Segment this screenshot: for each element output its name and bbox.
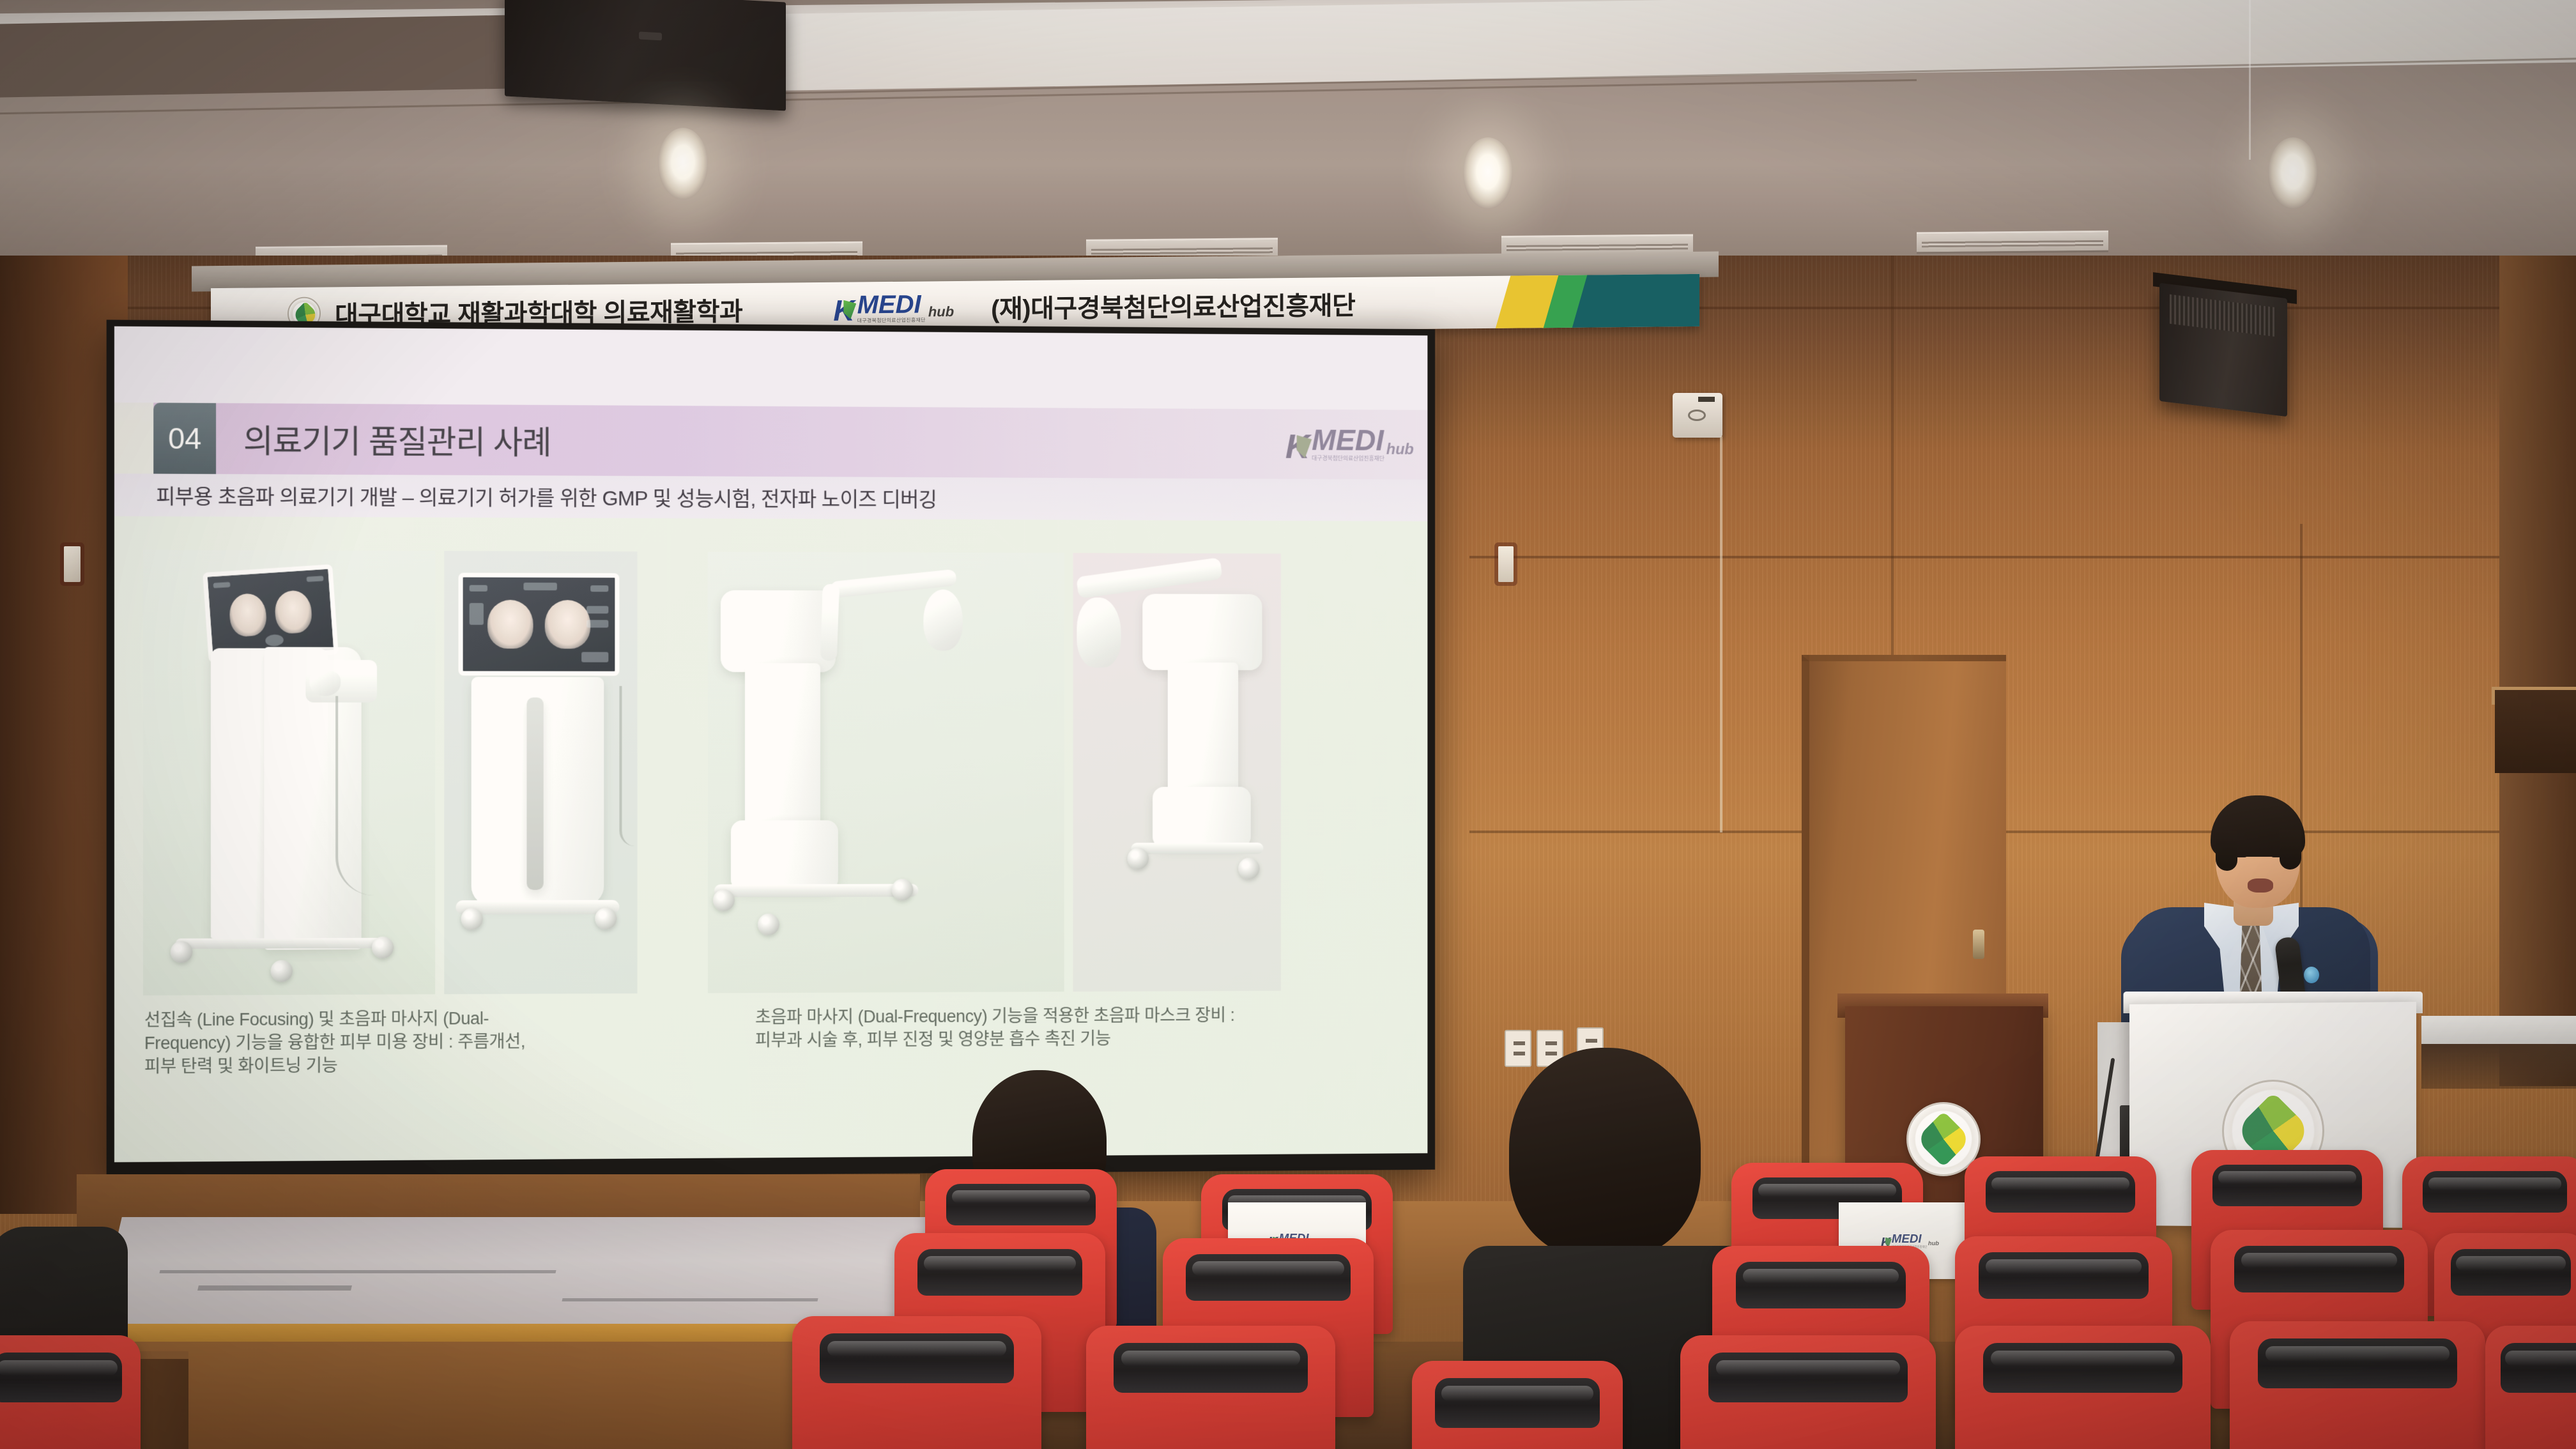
sensor-cable (1720, 436, 1722, 832)
device-caster (461, 908, 483, 930)
device-caster (595, 908, 617, 930)
screen-ui-element (586, 620, 608, 627)
ribbon-teal (1565, 274, 1699, 328)
ceiling-downlight-2 (1463, 137, 1513, 209)
device-caster (271, 960, 293, 982)
presentation-slide: 04 의료기기 품질관리 사례 K MEDI 대구경북첨단의료산업진흥재단 hu… (114, 326, 1427, 1162)
device-caster (1238, 858, 1259, 880)
seat[interactable] (1086, 1326, 1335, 1449)
door-handle[interactable] (1973, 930, 1984, 959)
device-base (1131, 843, 1263, 854)
right-wall-recess (2495, 690, 2576, 773)
sensor-lens (1688, 410, 1706, 421)
device-illustration (444, 551, 637, 994)
wall-seam (1469, 831, 2576, 833)
projection-screen: 04 의료기기 품질관리 사례 K MEDI 대구경북첨단의료산업진흥재단 hu… (107, 319, 1435, 1179)
seat[interactable] (1680, 1335, 1936, 1449)
speaker-grille (2170, 295, 2277, 337)
logo-medi-text: MEDI (857, 292, 926, 317)
slide-header-bar: 04 의료기기 품질관리 사례 K MEDI 대구경북첨단의료산업진흥재단 hu… (153, 402, 1427, 479)
placard-logo-hub: hub (1928, 1239, 1938, 1248)
device-arm-joint (820, 584, 839, 661)
banner-ribbon-graphic (1482, 274, 1699, 328)
presenter-mouth (2248, 878, 2273, 893)
device-illustration (143, 550, 435, 995)
seat[interactable] (0, 1335, 141, 1449)
ceiling-downlight-1 (658, 128, 708, 199)
device-base (176, 938, 383, 949)
device-touchscreen (459, 573, 620, 676)
slide-body: 선집속 (Line Focusing) 및 초음파 마사지 (Dual- Fre… (114, 516, 1427, 1162)
device-illustration (708, 552, 1064, 993)
logo-subtext: 대구경북첨단의료산업진흥재단 (857, 316, 926, 324)
side-table-shadow (2421, 1044, 2576, 1089)
wall-sensor-box (1673, 393, 1722, 438)
caption-right: 초음파 마사지 (Dual-Frequency) 기능을 적용한 초음파 마스크… (755, 1003, 1356, 1075)
ceiling-downlight-3 (2268, 137, 2318, 209)
device-caster (892, 879, 914, 901)
wall-fixture-center (1498, 546, 1514, 582)
slide-section-title: 의료기기 품질관리 사례 (216, 415, 551, 463)
side-table (2421, 1016, 2576, 1044)
wall-seam (1469, 556, 2576, 558)
right-wall-shadow (2499, 256, 2576, 1086)
device-base (714, 884, 918, 898)
device-mask-applicator (1077, 597, 1121, 668)
screen-ui-element (524, 583, 557, 590)
ceiling-hanging-wire (2249, 0, 2251, 160)
device-cable (619, 686, 634, 847)
wall-fixture-left (64, 546, 80, 582)
screen-ui-element (590, 585, 608, 592)
ceiling (0, 0, 2576, 275)
device-handpiece (310, 670, 341, 696)
slide-photo-row (143, 550, 1402, 995)
stage-scuff-mark (197, 1285, 352, 1291)
ultrasound-device-screen-photo (444, 551, 637, 994)
device-cable (335, 696, 374, 895)
device-caster (758, 914, 779, 935)
ultrasound-mask-device-photo (708, 552, 1064, 993)
slide-logo-hub: hub (1386, 437, 1414, 463)
auditorium-scene: 대구대학교 재활과학대학 의료재활학과 K MEDI 대구경북첨단의료산업진흥재… (0, 0, 2576, 1449)
logo-hub-text: hub (928, 300, 954, 323)
device-caster (1128, 848, 1149, 870)
screen-face-right (545, 600, 590, 648)
slide-logo-k: K (1285, 431, 1310, 462)
stage-scuff-mark (159, 1270, 556, 1273)
ultrasound-device-front-photo (143, 550, 435, 995)
device-illustration (1073, 553, 1281, 992)
ceiling-band-right (754, 0, 2576, 91)
screen-face-right (274, 590, 313, 634)
banner-right-org: (재)대구경북첨단의료산업진흥재단 (991, 285, 1355, 325)
logo-k-letter: K (833, 298, 854, 325)
presenter-lapel-badge (2304, 967, 2319, 983)
stage-scuff-mark (562, 1298, 818, 1301)
presenter-hair (2211, 795, 2305, 857)
seal-diamond (1915, 1111, 1972, 1167)
ceiling-band-left-dark (0, 14, 549, 97)
screen-ui-element (307, 576, 324, 582)
seat[interactable] (1955, 1326, 2211, 1449)
ceiling-speaker (505, 0, 786, 111)
slide-captions: 선집속 (Line Focusing) 및 초음파 마사지 (Dual- Fre… (144, 1003, 1402, 1078)
device-column-stripe (526, 698, 543, 890)
slide-subtitle-band: 피부용 초음파 의료기기 개발 – 의료기기 허가를 위한 GMP 및 성능시험… (114, 473, 1427, 521)
screen-ui-element (581, 652, 608, 662)
slide-kmedi-logo-icon: K MEDI 대구경북첨단의료산업진흥재단 hub (1285, 426, 1427, 463)
seat[interactable] (2230, 1321, 2485, 1449)
slide-top-margin (114, 326, 1427, 410)
device-support-arm (1076, 557, 1223, 599)
device-caster (713, 889, 735, 911)
device-head-unit (721, 590, 836, 672)
screen-face-left (487, 600, 533, 648)
screen-ui-element (470, 603, 484, 625)
device-lower-shelf (1153, 787, 1251, 848)
seat[interactable] (1412, 1361, 1623, 1449)
placard-logo-medi: MEDI (1891, 1233, 1927, 1245)
slide-subtitle: 피부용 초음파 의료기기 개발 – 의료기기 허가를 위한 GMP 및 성능시험… (114, 480, 937, 513)
screen-ui-element (213, 582, 231, 588)
caption-left: 선집속 (Line Focusing) 및 초음파 마사지 (Dual- Fre… (144, 1006, 726, 1078)
attendee-head (1509, 1048, 1701, 1259)
device-head-unit (1142, 594, 1262, 671)
device-mask-applicator (923, 590, 963, 651)
screen-ui-element (470, 585, 487, 592)
screen-surface: 04 의료기기 품질관리 사례 K MEDI 대구경북첨단의료산업진흥재단 hu… (114, 326, 1427, 1162)
device-caster (171, 941, 193, 963)
screen-ui-element (586, 606, 608, 613)
screen-ui-element (265, 634, 284, 647)
slide-logo-medi: MEDI (1312, 426, 1384, 454)
wall-mounted-speaker (2159, 283, 2287, 417)
seat[interactable] (2485, 1326, 2576, 1449)
device-caster (372, 937, 394, 958)
ultrasound-mask-device-detail-photo (1073, 553, 1281, 992)
seat[interactable] (792, 1316, 1041, 1449)
stage-platform (95, 1217, 946, 1332)
speaker-port (639, 31, 662, 40)
sensor-label (1698, 397, 1715, 402)
device-lower-shelf (731, 820, 838, 891)
slide-logo-subtext: 대구경북첨단의료산업진흥재단 (1312, 454, 1384, 463)
slide-section-number: 04 (153, 402, 216, 474)
screen-face-left (228, 593, 267, 638)
ceiling-vent (1917, 231, 2108, 254)
kmedi-hub-logo-icon: K MEDI 대구경북첨단의료산업진흥재단 hub (833, 292, 954, 325)
